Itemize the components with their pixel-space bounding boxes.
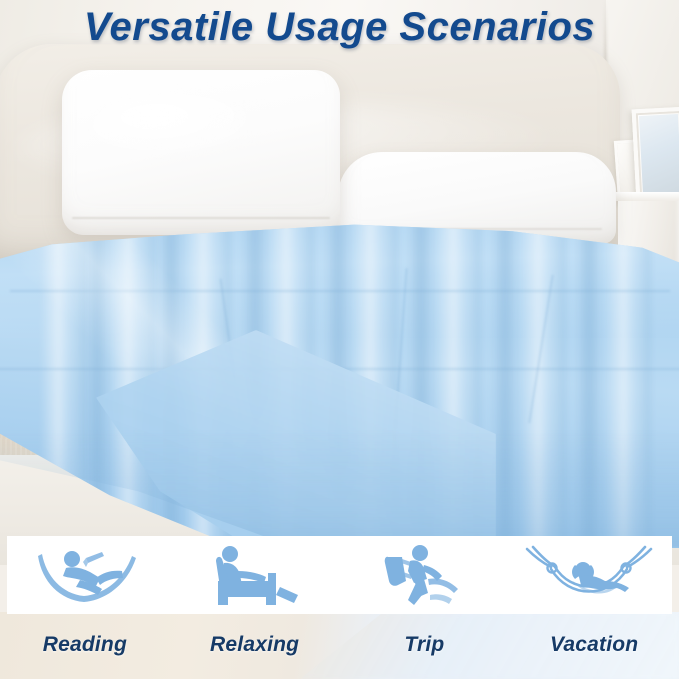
nightstand-top-edge bbox=[612, 192, 679, 201]
product-infographic: Versatile Usage Scenarios bbox=[0, 0, 679, 679]
scenario-labels-row: Reading Relaxing Trip Vacation bbox=[0, 624, 679, 666]
person-hammock-icon bbox=[521, 543, 657, 607]
usage-scenario-panel bbox=[7, 536, 672, 614]
pillow-highlight bbox=[88, 92, 278, 162]
person-armchair-icon bbox=[208, 543, 304, 607]
scenario-label-trip: Trip bbox=[340, 633, 510, 657]
person-reading-icon bbox=[36, 544, 144, 606]
scenario-item-vacation[interactable] bbox=[506, 536, 672, 614]
picture-frame bbox=[632, 107, 679, 204]
scenario-label-reading: Reading bbox=[0, 633, 170, 657]
picture-frame-artwork bbox=[639, 114, 679, 196]
scenario-item-trip[interactable] bbox=[340, 536, 506, 614]
scenario-label-relaxing: Relaxing bbox=[170, 633, 340, 657]
hiker-backpack-icon bbox=[380, 543, 466, 607]
scenario-item-reading[interactable] bbox=[7, 536, 173, 614]
page-title: Versatile Usage Scenarios bbox=[0, 0, 679, 54]
pillow-left bbox=[62, 70, 340, 235]
scenario-item-relaxing[interactable] bbox=[173, 536, 339, 614]
scenario-label-vacation: Vacation bbox=[509, 633, 679, 657]
